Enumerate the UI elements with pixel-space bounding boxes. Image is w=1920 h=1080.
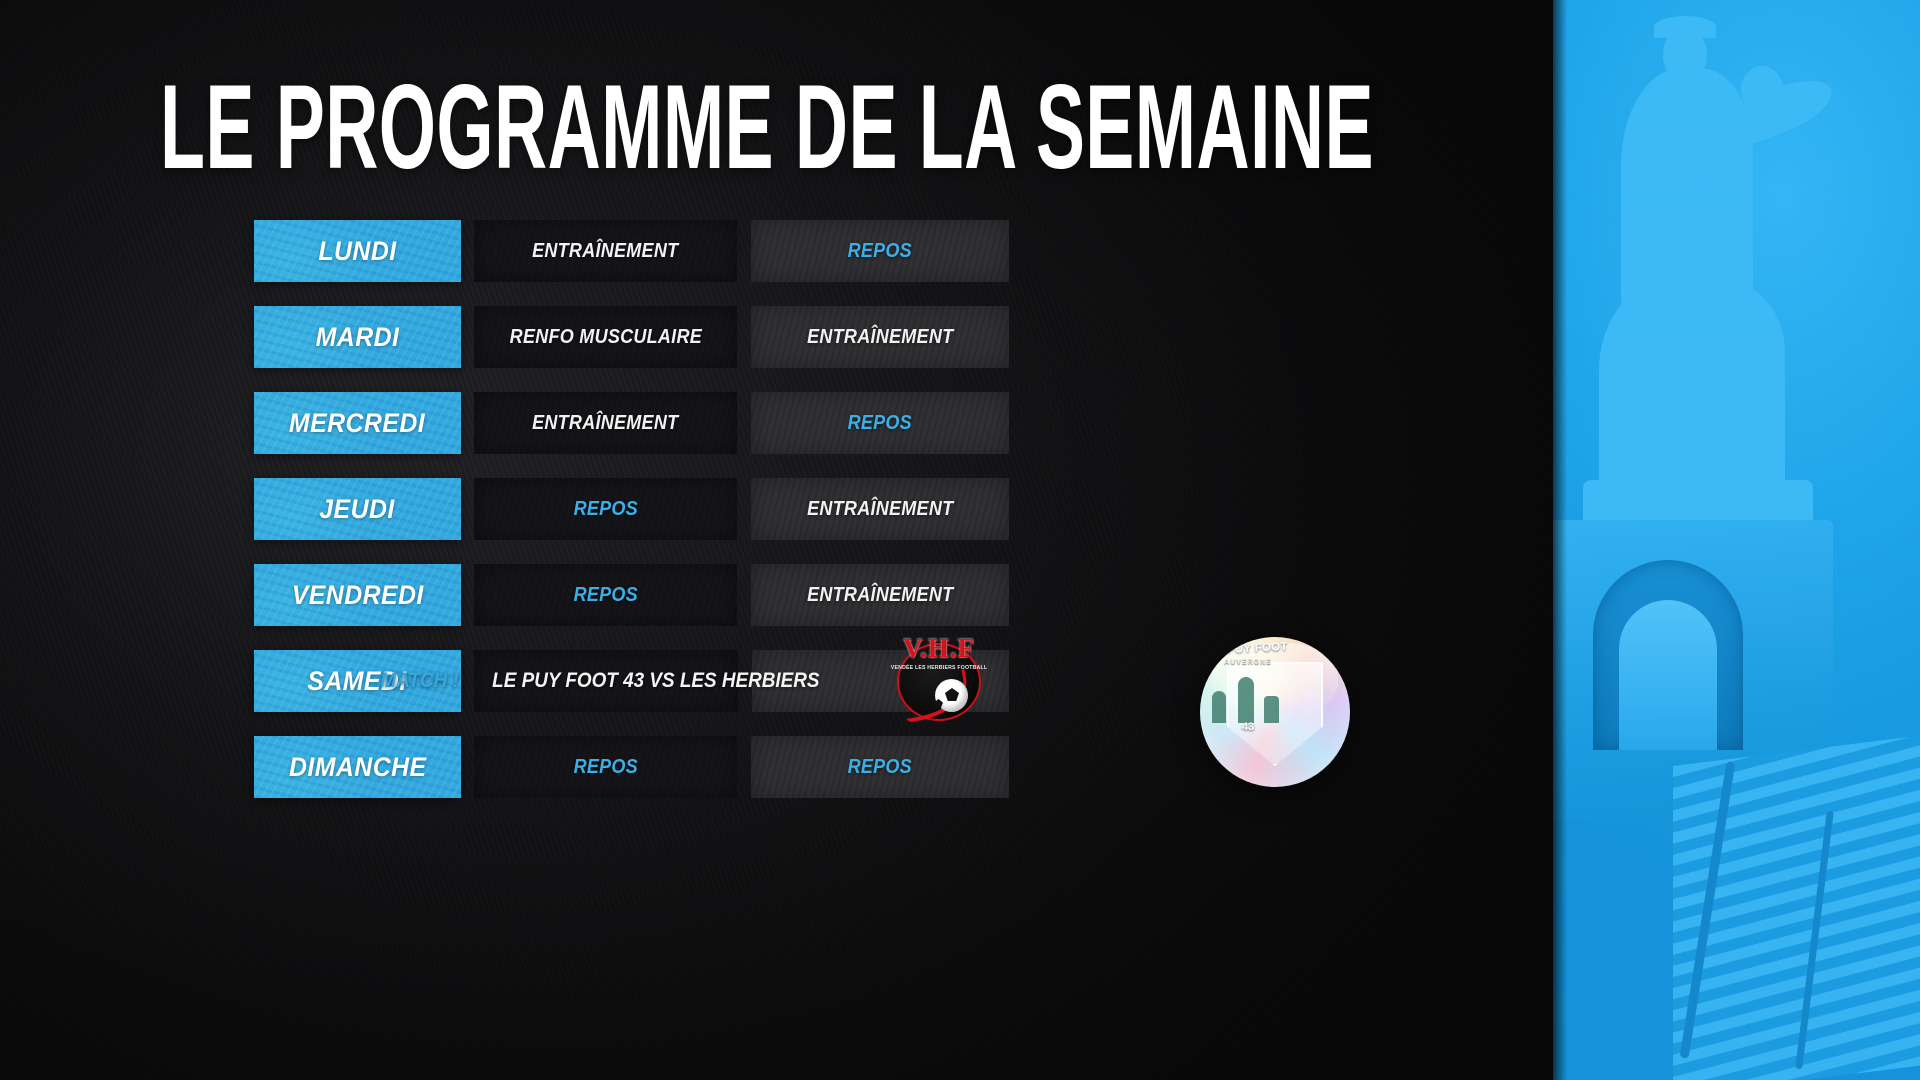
match-cell[interactable]: MATCH ! LE PUY FOOT 43 VS LES HERBIERS	[474, 650, 738, 712]
poster-root: LE PROGRAMME DE LA SEMAINE LUNDI ENTRAÎN…	[0, 0, 1920, 1080]
match-info: MATCH ! LE PUY FOOT 43 VS LES HERBIERS	[376, 669, 838, 693]
table-row: DIMANCHE REPOS REPOS	[254, 736, 1009, 798]
table-row: LUNDI ENTRAÎNEMENT REPOS	[254, 220, 1009, 282]
skyline-icon	[1208, 671, 1288, 723]
table-row: VENDREDI REPOS ENTRAÎNEMENT	[254, 564, 1009, 626]
morning-cell-dimanche[interactable]: REPOS	[474, 736, 738, 798]
soccer-ball-icon	[935, 679, 968, 712]
table-row: JEUDI REPOS ENTRAÎNEMENT	[254, 478, 1009, 540]
afternoon-cell-mardi[interactable]: ENTRAÎNEMENT	[751, 306, 1009, 368]
morning-cell-mardi[interactable]: RENFO MUSCULAIRE	[474, 306, 738, 368]
morning-cell-vendredi[interactable]: REPOS	[474, 564, 738, 626]
morning-cell-jeudi[interactable]: REPOS	[474, 478, 738, 540]
activity-label: RENFO MUSCULAIRE	[509, 326, 701, 349]
day-cell-lundi[interactable]: LUNDI	[254, 220, 461, 282]
day-cell-mardi[interactable]: MARDI	[254, 306, 461, 368]
day-label: DIMANCHE	[289, 752, 427, 783]
activity-label: ENTRAÎNEMENT	[532, 412, 678, 435]
photo-left-edge-shadow	[1553, 0, 1567, 1080]
page-title: LE PROGRAMME DE LA SEMAINE	[160, 68, 1374, 188]
photo-blue-tint	[1553, 0, 1920, 1080]
morning-cell-mercredi[interactable]: ENTRAÎNEMENT	[474, 392, 738, 454]
day-label: MARDI	[315, 322, 399, 353]
activity-label: ENTRAÎNEMENT	[807, 498, 953, 521]
club-number-label: 43	[1200, 721, 1296, 733]
day-label: VENDREDI	[291, 580, 423, 611]
day-label: MERCREDI	[289, 408, 425, 439]
weekly-schedule-table: LUNDI ENTRAÎNEMENT REPOS MARDI RENFO MUS…	[254, 220, 1009, 822]
activity-label: REPOS	[848, 756, 912, 779]
day-cell-jeudi[interactable]: JEUDI	[254, 478, 461, 540]
match-badge-label: MATCH !	[380, 669, 458, 693]
afternoon-cell-jeudi[interactable]: ENTRAÎNEMENT	[751, 478, 1009, 540]
club-badge-le-puy-foot: LE PUY FOOT AUVERGNE 43	[1200, 637, 1350, 787]
day-label: LUNDI	[318, 236, 396, 267]
afternoon-cell-mercredi[interactable]: REPOS	[751, 392, 1009, 454]
activity-label: REPOS	[573, 756, 637, 779]
activity-label: ENTRAÎNEMENT	[807, 326, 953, 349]
skyline-peak	[1212, 691, 1226, 723]
morning-cell-lundi[interactable]: ENTRAÎNEMENT	[474, 220, 738, 282]
afternoon-cell-vendredi[interactable]: ENTRAÎNEMENT	[751, 564, 1009, 626]
activity-label: ENTRAÎNEMENT	[807, 584, 953, 607]
table-row: MARDI RENFO MUSCULAIRE ENTRAÎNEMENT	[254, 306, 1009, 368]
afternoon-cell-lundi[interactable]: REPOS	[751, 220, 1009, 282]
club-region-label: AUVERGNE	[1200, 659, 1296, 666]
vhf-subtitle: VENDÉE LES HERBIERS FOOTBALL	[889, 665, 989, 671]
match-fixture-label: LE PUY FOOT 43 VS LES HERBIERS	[492, 669, 819, 693]
afternoon-cell-dimanche[interactable]: REPOS	[751, 736, 1009, 798]
skyline-peak	[1264, 696, 1279, 723]
activity-label: REPOS	[573, 584, 637, 607]
activity-label: REPOS	[848, 240, 912, 263]
activity-label: REPOS	[573, 498, 637, 521]
table-row-match: SAMEDI MATCH ! LE PUY FOOT 43 VS LES HER…	[254, 650, 1009, 712]
skyline-peak	[1238, 677, 1254, 723]
activity-label: REPOS	[848, 412, 912, 435]
day-label: JEUDI	[320, 494, 395, 525]
day-cell-mercredi[interactable]: MERCREDI	[254, 392, 461, 454]
table-row: MERCREDI ENTRAÎNEMENT REPOS	[254, 392, 1009, 454]
day-cell-vendredi[interactable]: VENDREDI	[254, 564, 461, 626]
activity-label: ENTRAÎNEMENT	[532, 240, 678, 263]
statue-photo-panel	[1553, 0, 1920, 1080]
vhf-opponent-logo-icon: V.H.F VENDÉE LES HERBIERS FOOTBALL	[889, 631, 989, 731]
day-cell-dimanche[interactable]: DIMANCHE	[254, 736, 461, 798]
